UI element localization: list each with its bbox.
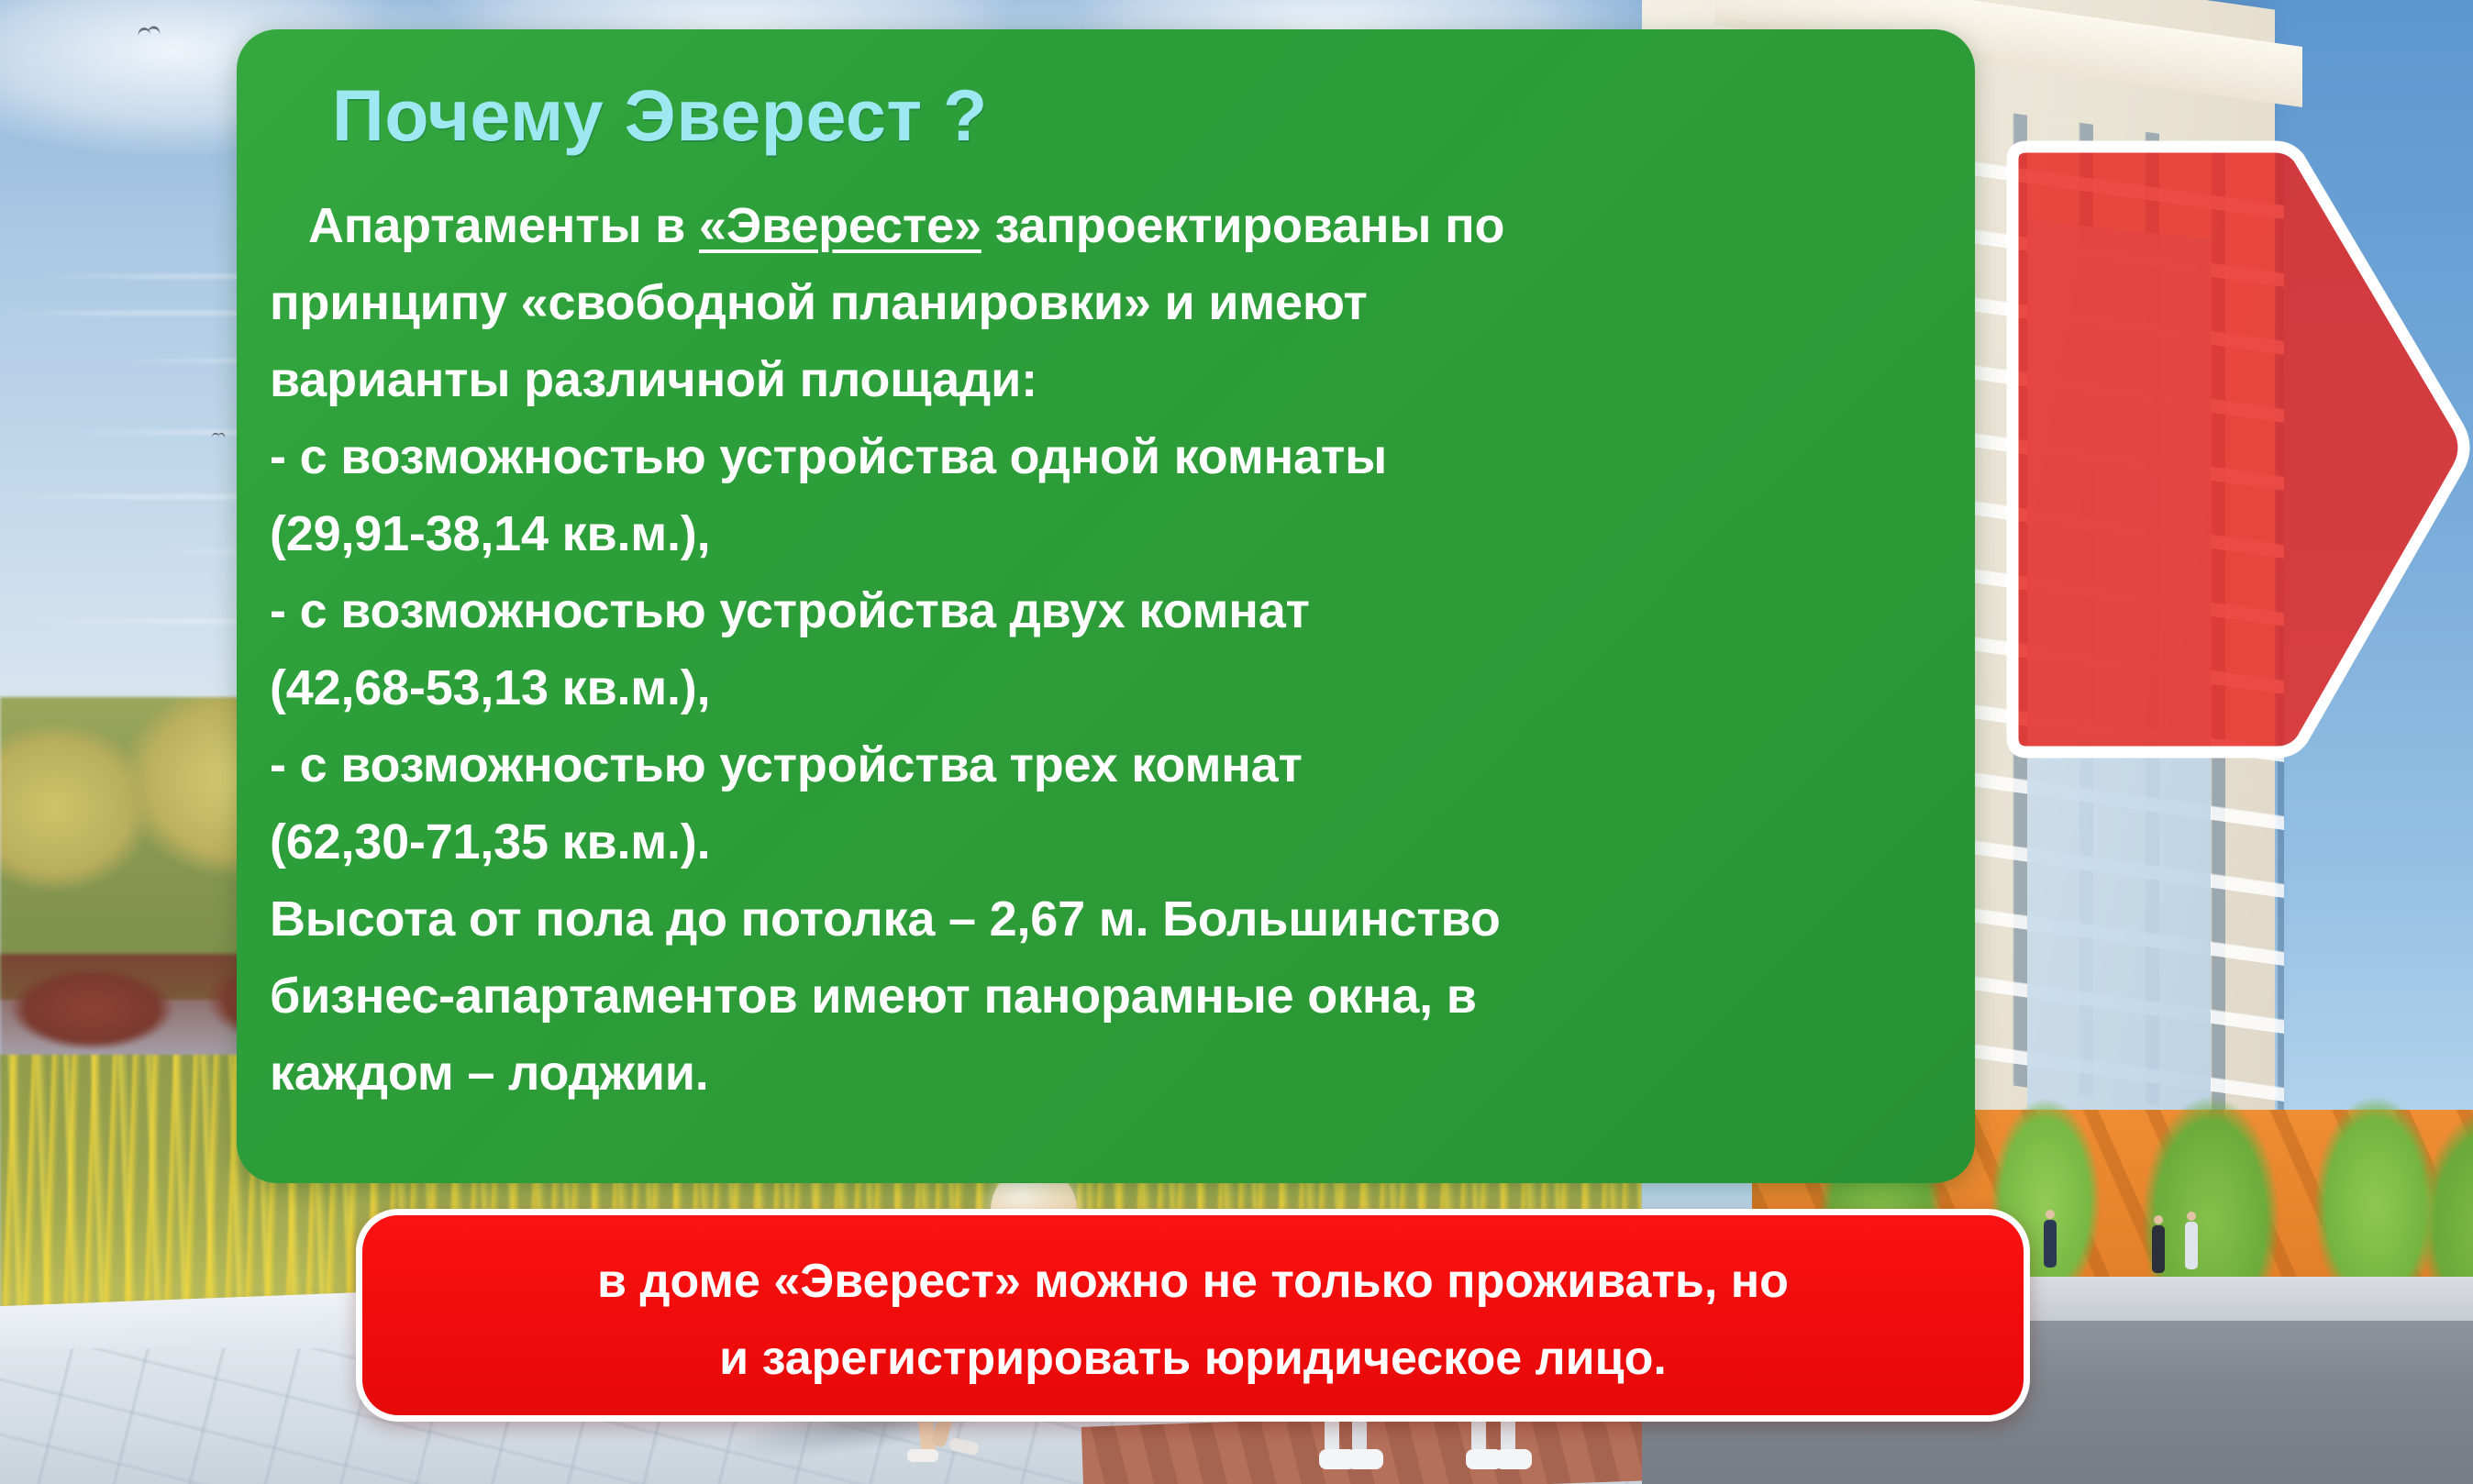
- body-line-2: принципу «свободной планировки» и имеют: [270, 264, 1829, 341]
- body-line-4: - с возможностью устройства одной комнат…: [270, 418, 1829, 495]
- shoe: [948, 1437, 980, 1456]
- body-line-6: - с возможностью устройства двух комнат: [270, 572, 1829, 649]
- body-line-5: (29,91-38,14 кв.м.),: [270, 495, 1829, 572]
- body-line-9: (62,30-71,35 кв.м.).: [270, 803, 1829, 880]
- body-line-12: каждом – лоджии.: [270, 1035, 1829, 1112]
- body-line-1-c: запроектированы по: [981, 198, 1504, 253]
- pedestrian: [2044, 1220, 2057, 1268]
- pedestrian: [2152, 1225, 2165, 1273]
- banner-text: в доме «Эверест» можно не только прожива…: [362, 1243, 2024, 1397]
- body-line-11: бизнес-апартаментов имеют панорамные окн…: [270, 958, 1829, 1035]
- slide-canvas: Почему Эверест ? Апартаменты в «Эвересте…: [0, 0, 2473, 1484]
- body-line-8: - с возможностью устройства трех комнат: [270, 726, 1829, 803]
- pedestrian: [2185, 1222, 2198, 1269]
- body-line-10: Высота от пола до потолка – 2,67 м. Боль…: [270, 880, 1829, 958]
- body-line-7: (42,68-53,13 кв.м.),: [270, 649, 1829, 726]
- bird: [137, 27, 150, 37]
- body-line-1: Апартаменты в «Эвересте» запроектированы…: [270, 187, 1829, 264]
- body-line-1-quoted-name: «Эвересте»: [699, 198, 981, 253]
- banner-line-2: и зарегистрировать юридическое лицо.: [362, 1320, 2024, 1397]
- bird: [212, 433, 219, 437]
- shoe: [907, 1449, 938, 1462]
- body-line-3: варианты различной площади:: [270, 341, 1829, 418]
- red-callout-banner: в доме «Эверест» можно не только прожива…: [356, 1209, 2030, 1422]
- page-title: Почему Эверест ?: [332, 73, 988, 158]
- banner-line-1: в доме «Эверест» можно не только прожива…: [597, 1255, 1789, 1308]
- body-line-1-a: Апартаменты в: [308, 198, 699, 253]
- red-right-arrow: [2000, 138, 2473, 761]
- panel-body-text: Апартаменты в «Эвересте» запроектированы…: [270, 187, 1829, 1112]
- green-content-panel: Почему Эверест ? Апартаменты в «Эвересте…: [237, 29, 1975, 1183]
